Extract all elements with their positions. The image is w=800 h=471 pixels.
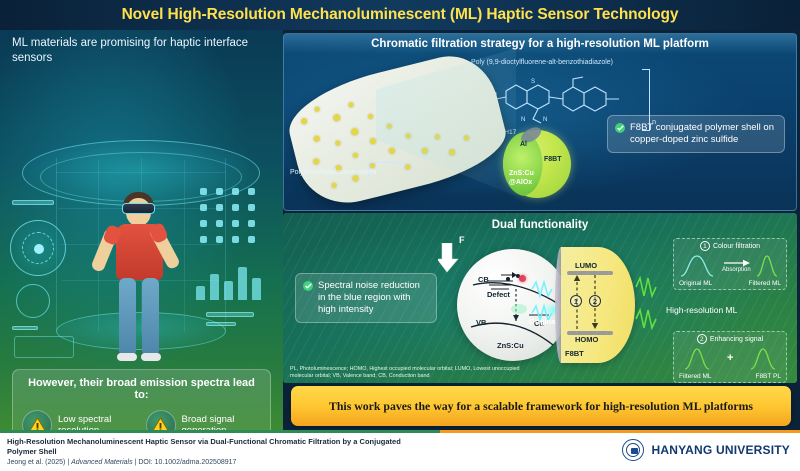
check-circle-icon xyxy=(615,123,625,133)
step-number-2: 2 xyxy=(697,334,707,344)
svg-text:S: S xyxy=(531,79,535,85)
label-high-resolution-ml: High-resolution ML xyxy=(666,305,737,315)
list-item: Broad signal generation xyxy=(146,410,262,430)
limitations-card-title: However, their broad emission spectra le… xyxy=(22,377,261,401)
excited-carrier-marker xyxy=(519,275,526,282)
label-lumo: LUMO xyxy=(575,261,597,270)
dual-functionality-panel: Dual functionality Spectral noise reduct… xyxy=(283,213,797,383)
particle-interface xyxy=(555,247,567,363)
step-number-1: 1 xyxy=(700,241,710,251)
callout-spectral-noise: Spectral noise reduction in the blue reg… xyxy=(295,273,437,323)
f8bt-shell-section: LUMO HOMO F8BT 1 2 xyxy=(561,247,635,363)
label-f8bt: F8BT xyxy=(565,349,584,358)
vr-headset-icon xyxy=(122,203,155,214)
force-arrow-icon xyxy=(438,243,460,273)
spectra-right-caption: Filtered ML xyxy=(748,280,781,287)
spectra-box-title: Colour filtration xyxy=(713,243,760,250)
absorption-arrow-icon xyxy=(724,259,750,267)
citation-line: Jeong et al. (2025) | Advanced Materials… xyxy=(7,459,427,466)
university-seal-icon xyxy=(622,439,644,461)
label-defect: Defect xyxy=(487,290,510,299)
citation-separator-2: | xyxy=(135,459,137,466)
original-ml-waveform-icon xyxy=(531,279,559,323)
spectrum-curve-original xyxy=(680,253,714,277)
university-name: HANYANG UNIVERSITY xyxy=(651,443,790,457)
lumo-level xyxy=(567,271,613,275)
citation-journal: Advanced Materials xyxy=(71,459,132,466)
zns-cu-energy-sphere: CB Defect VB Cu ZnS:Cu xyxy=(457,249,569,361)
chromatic-filtration-header: Chromatic filtration strategy for a high… xyxy=(284,34,796,54)
homo-level xyxy=(567,331,613,335)
hologram-sparkline xyxy=(14,336,74,358)
university-brand: HANYANG UNIVERSITY xyxy=(622,439,790,461)
abbreviations-footnote: PL, Photoluminescence; HOMO, Highest occ… xyxy=(290,366,530,380)
warning-triangle-icon xyxy=(22,410,52,430)
label-zns-cu: ZnS:Cu xyxy=(509,170,534,177)
citation-doi: DOI: 10.1002/adma.202508917 xyxy=(138,459,236,466)
limitations-card: However, their broad emission spectra le… xyxy=(12,369,271,430)
callout-text: Spectral noise reduction in the blue reg… xyxy=(318,280,428,316)
label-original-ml: Original ML xyxy=(529,317,570,326)
label-f8bt: F8BT xyxy=(544,156,562,163)
label-cb: CB xyxy=(478,275,489,284)
footer-accent-bar xyxy=(0,430,800,433)
step-number-2: 2 xyxy=(589,295,601,307)
figure-legs xyxy=(119,278,161,360)
panel-heading: Dual functionality xyxy=(283,219,797,231)
spectra-left-caption: Original ML xyxy=(679,280,712,287)
step-number-1: 1 xyxy=(570,295,582,307)
check-circle-icon xyxy=(303,281,313,291)
callout-f8bt-shell: F8BT conjugated polymer shell on copper-… xyxy=(607,115,785,153)
spectra-box-header: 2 Enhancing signal xyxy=(674,334,786,344)
conclusion-text: This work paves the way for a scalable f… xyxy=(329,399,753,414)
hologram-dial-large xyxy=(10,220,66,276)
warning-triangle-icon xyxy=(146,410,176,430)
figure-leg-left xyxy=(119,278,136,356)
hologram-bar-chart xyxy=(196,262,268,300)
chromatic-filtration-panel: Chromatic filtration strategy for a high… xyxy=(283,33,797,211)
left-panel-lead-text: ML materials are promising for haptic in… xyxy=(12,36,262,66)
citation-block: High-Resolution Mechanoluminescent Hapti… xyxy=(7,437,427,466)
spectrum-curve-filtered xyxy=(756,253,778,277)
svg-text:N: N xyxy=(543,117,547,123)
hologram-dial-small xyxy=(16,284,50,318)
poster-footer: High-Resolution Mechanoluminescent Hapti… xyxy=(0,430,800,471)
list-item: Low spectral resolution xyxy=(22,410,138,430)
spectra-left-caption: Filtered ML xyxy=(679,373,712,380)
label-al: Al xyxy=(520,141,527,148)
blue-emission-glow xyxy=(543,303,565,317)
label-zns-cu: ZnS:Cu xyxy=(497,341,524,350)
infographic-poster: Novel High-Resolution Mechanoluminescent… xyxy=(0,0,800,471)
panel-heading: Chromatic filtration strategy for a high… xyxy=(371,38,709,50)
citation-separator-1: | xyxy=(67,459,69,466)
page-title: Novel High-Resolution Mechanoluminescent… xyxy=(122,6,679,24)
spectrum-curve-f8bt-pl xyxy=(750,346,776,370)
list-item-label: Low spectral resolution xyxy=(58,414,138,431)
plus-operator: + xyxy=(727,352,733,364)
absorption-label: Absorption xyxy=(722,267,751,273)
citation-authors: Jeong et al. (2025) xyxy=(7,459,65,466)
left-illustration-panel: ML materials are promising for haptic in… xyxy=(0,30,283,430)
paper-title: High-Resolution Mechanoluminescent Hapti… xyxy=(7,437,427,456)
callout-text: F8BT conjugated polymer shell on copper-… xyxy=(630,122,776,146)
high-resolution-ml-waveform-icon xyxy=(635,275,665,337)
svg-text:N: N xyxy=(521,117,525,123)
label-vb: VB xyxy=(476,318,486,327)
spectra-box-enhancing-signal: 2 Enhancing signal + Filtered ML F8BT PL xyxy=(673,331,787,383)
pdms-matrix-label: Polydimethylsiloxane matrix xyxy=(290,168,382,177)
hologram-dot-grid xyxy=(200,188,266,248)
limitations-list: Low spectral resolution Broad signal gen… xyxy=(22,410,261,430)
spectra-box-title: Enhancing signal xyxy=(710,336,763,343)
label-alox: @AlOx xyxy=(509,179,532,186)
hologram-illustration xyxy=(0,98,283,338)
spectra-box-header: 1 Colour filtration xyxy=(674,241,786,251)
label-cu: Cu xyxy=(534,319,544,328)
band-diagram xyxy=(457,249,569,361)
transition-arrows xyxy=(569,271,613,333)
figure-leg-right xyxy=(142,278,159,356)
list-item-label: Broad signal generation xyxy=(182,414,262,431)
label-homo: HOMO xyxy=(575,335,598,344)
label-force: F xyxy=(459,235,465,245)
spectra-right-caption: F8BT PL xyxy=(755,373,781,380)
spectrum-curve-filtered xyxy=(684,346,710,370)
core-shell-particle: Al F8BT ZnS:Cu @AlOx xyxy=(503,130,571,198)
vr-user-figure xyxy=(92,188,196,378)
conclusion-banner: This work paves the way for a scalable f… xyxy=(291,386,791,426)
spectra-box-colour-filtration: 1 Colour filtration Absorption Original … xyxy=(673,238,787,290)
poster-title-bar: Novel High-Resolution Mechanoluminescent… xyxy=(0,0,800,30)
